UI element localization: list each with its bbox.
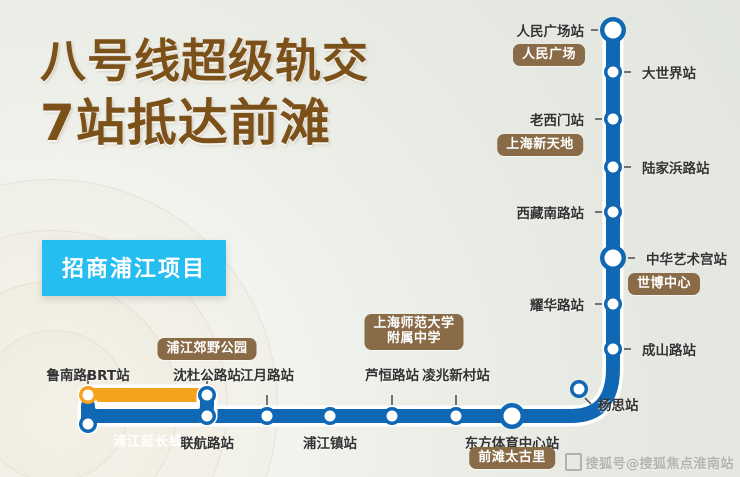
poi-shishida-line-2: 附属中学 [373, 331, 454, 346]
lbl-jiangyue: 江月路站 [240, 364, 294, 384]
poi-renmin-line-1: 人民广场 [522, 47, 576, 62]
station-dot-inner [387, 411, 398, 422]
lbl-xizang: 西藏南路站 [517, 202, 585, 222]
headline-line-1: 八号线超级轨交 [40, 38, 369, 84]
station-dot-dashijie[interactable] [604, 63, 622, 81]
station-dot-lujiabang-lu[interactable] [604, 158, 622, 176]
lbl-zhonghua: 中华艺术宫站 [646, 248, 727, 268]
station-dot-jiangyue-lu[interactable] [258, 407, 276, 425]
poi-qiantan-line-1: 前滩太古里 [478, 450, 546, 465]
station-dot-laoximen[interactable] [604, 110, 622, 128]
station-dot-inner [202, 411, 213, 422]
lbl-dashijie: 大世界站 [642, 62, 696, 82]
poi-shishida-line-1: 上海师范大学 [373, 316, 454, 331]
lbl-lianhang: 联航路站 [180, 432, 234, 452]
station-dot-yaohua-lu[interactable] [604, 295, 622, 313]
headline-line-2: 7站抵达前滩 [40, 98, 369, 148]
station-dot-inner [605, 250, 622, 267]
poi-shibo-line-1: 世博中心 [637, 276, 691, 291]
station-dot-zhonghua-yishugong[interactable] [600, 245, 626, 271]
station-dot-pujiang-zhen[interactable] [321, 407, 339, 425]
lbl-lujiabang: 陆家浜路站 [642, 157, 710, 177]
lbl-lingzhao: 凌兆新村站 [422, 364, 490, 384]
poi-shishida: 上海师范大学附属中学 [364, 314, 463, 350]
station-dot-dongfang-tiyu[interactable] [499, 403, 525, 429]
poi-qiantan: 前滩太古里 [469, 447, 555, 469]
station-dot-renmin-guangchang[interactable] [600, 17, 626, 43]
lbl-yangsi: 杨思站 [598, 394, 639, 414]
lbl-chengshan: 成山路站 [642, 339, 696, 359]
station-dot-inner [608, 344, 619, 355]
station-dot-lunan-lu-brt[interactable] [79, 386, 97, 404]
station-dot-inner [504, 408, 521, 425]
lbl-pujiangzhen: 浦江镇站 [303, 432, 357, 452]
poi-renmin: 人民广场 [513, 44, 585, 66]
station-dot-inner [83, 390, 94, 401]
poi-xintiandi: 上海新天地 [497, 134, 583, 156]
project-badge: 招商浦江项目 [42, 240, 226, 296]
lbl-renmin: 人民广场站 [517, 20, 585, 40]
station-dot-inner [202, 390, 213, 401]
poi-shibo: 世博中心 [628, 273, 700, 295]
poi-jiaoye: 浦江郊野公园 [157, 338, 256, 360]
station-dot-yangsi[interactable] [570, 380, 588, 398]
watermark-icon [565, 453, 582, 471]
watermark: 搜狐号@搜狐焦点淮南站 [585, 453, 734, 472]
station-dot-luheng-lu[interactable] [383, 407, 401, 425]
station-dot-inner [608, 299, 619, 310]
station-dot-lingzhao-xincun[interactable] [447, 407, 465, 425]
poi-xintiandi-line-1: 上海新天地 [506, 137, 574, 152]
lbl-laoximen: 老西门站 [530, 109, 584, 129]
station-dot-shendu-gonglu[interactable] [198, 386, 216, 404]
station-dot-lianhang-lu[interactable] [198, 407, 216, 425]
headline-block: 八号线超级轨交 7站抵达前滩 [40, 38, 369, 148]
station-dot-inner [608, 67, 619, 78]
lbl-lunan: 鲁南路BRT站 [46, 364, 129, 384]
lbl-luheng: 芦恒路站 [365, 364, 419, 384]
station-dot-inner [608, 207, 619, 218]
station-dot-inner [262, 411, 273, 422]
station-dot-inner [608, 114, 619, 125]
lbl-yaohua: 耀华路站 [530, 294, 584, 314]
line-tag-pujiang-extension: 浦江延长线 [113, 431, 183, 450]
station-dot-pujiang-terminus[interactable] [79, 415, 97, 433]
station-dot-inner [574, 384, 585, 395]
poi-jiaoye-line-1: 浦江郊野公园 [166, 341, 247, 356]
station-dot-xizang-nanlu[interactable] [604, 203, 622, 221]
station-dot-inner [608, 162, 619, 173]
lbl-shendu: 沈杜公路站 [173, 364, 241, 384]
metro-line-infographic: 八号线超级轨交 7站抵达前滩 招商浦江项目 人民广场站大世界站老西门站陆家浜路站… [0, 0, 740, 477]
station-dot-chengshan-lu[interactable] [604, 340, 622, 358]
station-dot-inner [325, 411, 336, 422]
station-dot-inner [605, 22, 622, 39]
station-dot-inner [451, 411, 462, 422]
station-dot-inner [83, 419, 94, 430]
